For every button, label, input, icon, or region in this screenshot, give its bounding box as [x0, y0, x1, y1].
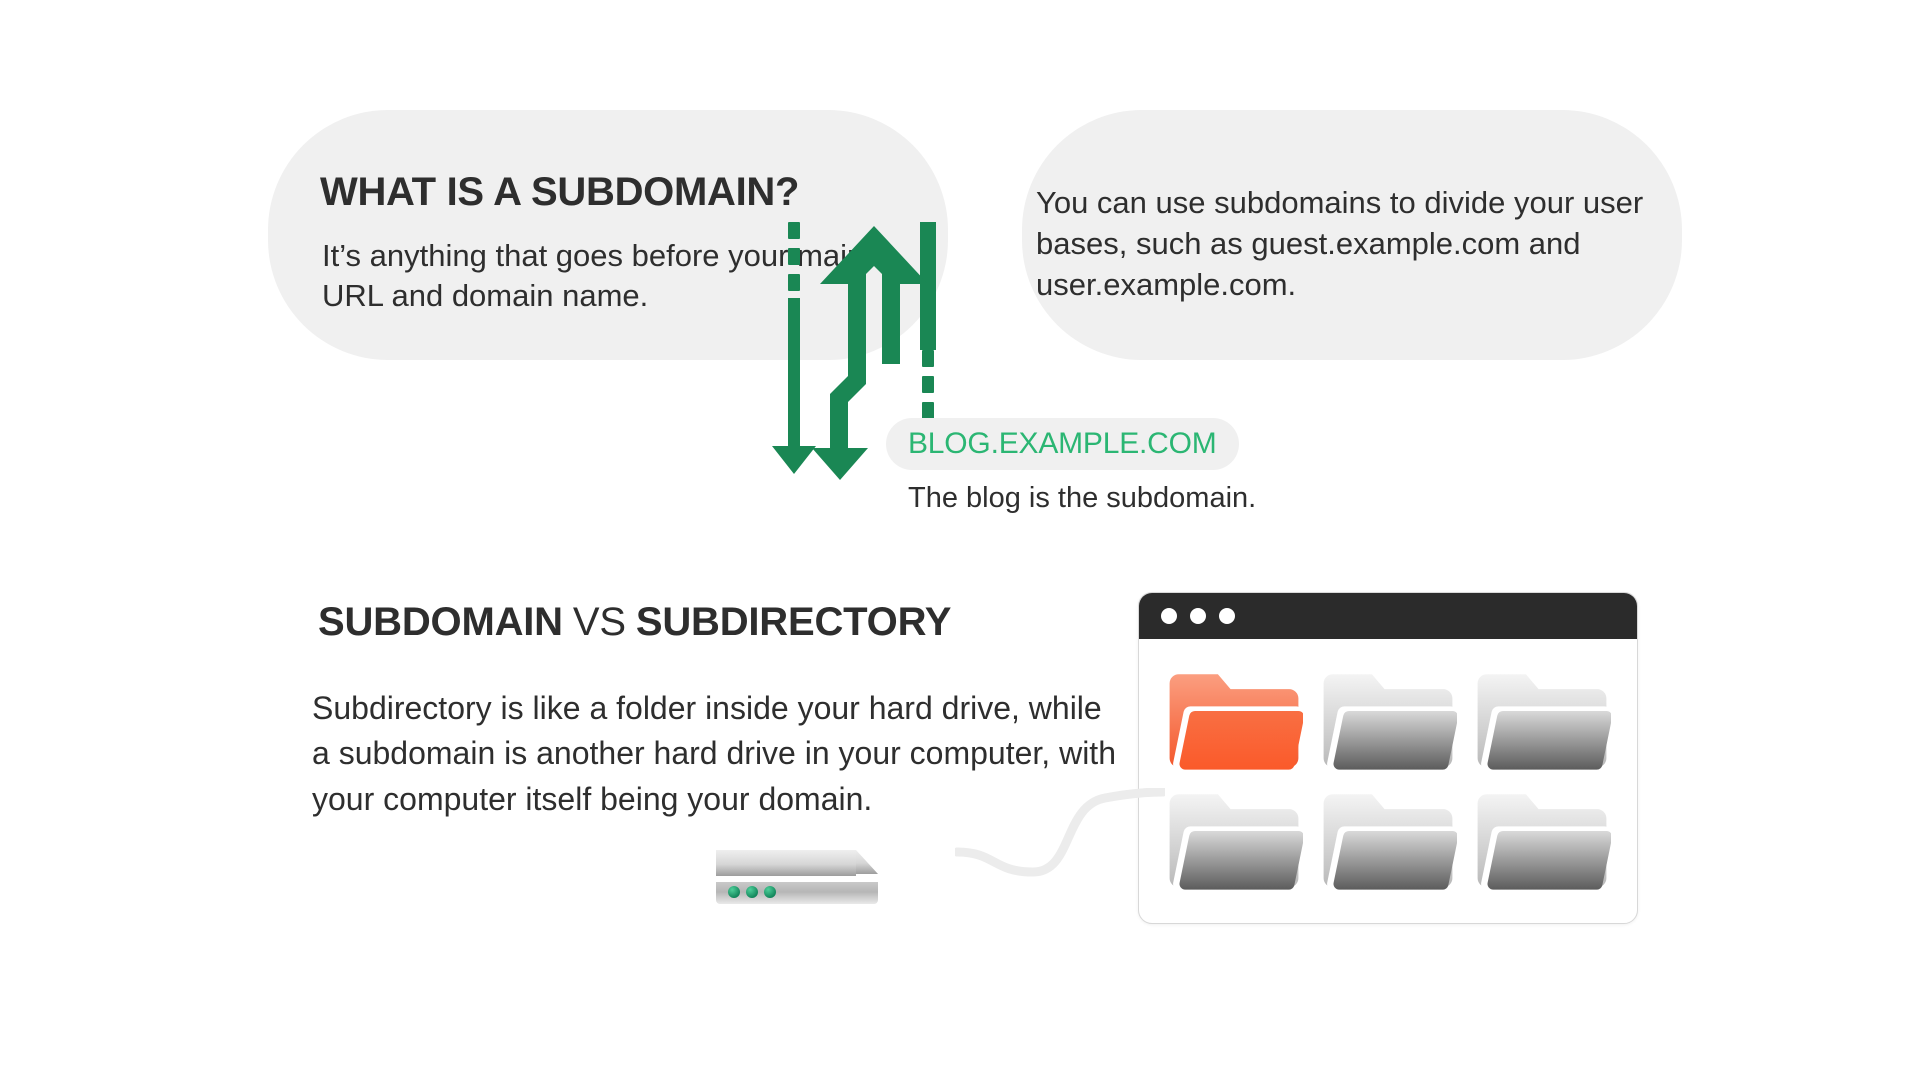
drive-cable — [955, 788, 1165, 898]
up-arrow-outline — [820, 226, 928, 370]
left-down-arrow — [772, 298, 816, 474]
heading-part-vs: VS — [563, 600, 636, 644]
grey-folder-icon[interactable] — [1319, 785, 1457, 891]
traffic-light-dot-2[interactable] — [1190, 608, 1206, 624]
what-is-a-subdomain-heading: WHAT IS A SUBDOMAIN? — [320, 170, 799, 215]
drive-led-1 — [728, 886, 740, 898]
traffic-light-dot-1[interactable] — [1161, 608, 1177, 624]
traffic-light-dot-3[interactable] — [1219, 608, 1235, 624]
drive-led-3 — [764, 886, 776, 898]
orange-folder-icon[interactable] — [1165, 665, 1303, 771]
heading-part-subdirectory: SUBDIRECTORY — [636, 600, 951, 644]
dotted-line-left — [788, 222, 800, 291]
subdomain-vs-subdirectory-heading: SUBDOMAINVSSUBDIRECTORY — [318, 600, 951, 645]
browser-titlebar — [1139, 593, 1637, 639]
heading-part-subdomain: SUBDOMAIN — [318, 600, 563, 644]
infographic-canvas: WHAT IS A SUBDOMAIN? It’s anything that … — [0, 0, 1920, 1080]
up-arrow-right-stem — [920, 222, 936, 350]
blog-example-url-pill[interactable]: BLOG.EXAMPLE.COM — [886, 418, 1239, 470]
down-arrow-bent-stem — [812, 362, 868, 480]
external-hard-drive-icon — [710, 838, 980, 918]
grey-folder-icon[interactable] — [1473, 665, 1611, 771]
url-caption-text: The blog is the subdomain. — [908, 482, 1256, 515]
right-bubble-body-text: You can use subdomains to divide your us… — [1036, 182, 1666, 306]
drive-led-2 — [746, 886, 758, 898]
dotted-line-right — [922, 350, 934, 419]
blog-example-url-text: BLOG.EXAMPLE.COM — [908, 427, 1217, 461]
folder-grid — [1139, 639, 1637, 911]
grey-folder-icon[interactable] — [1319, 665, 1457, 771]
browser-window-illustration — [1138, 592, 1638, 924]
grey-folder-icon[interactable] — [1165, 785, 1303, 891]
grey-folder-icon[interactable] — [1473, 785, 1611, 891]
